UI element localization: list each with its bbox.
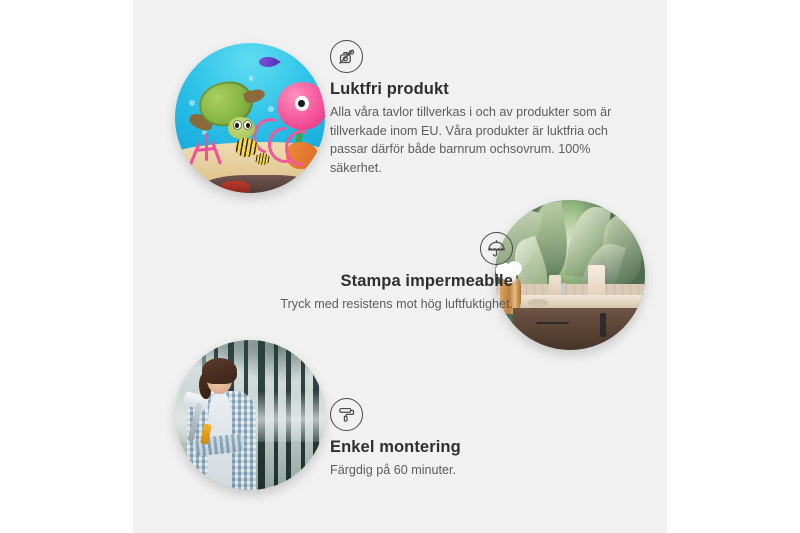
product-image-forest-installer bbox=[175, 340, 325, 490]
feature-title: Stampa impermeabile bbox=[213, 271, 513, 292]
feature-waterproof-print: Stampa impermeabile Tryck med resistens … bbox=[213, 232, 513, 314]
underwater-artwork bbox=[175, 43, 325, 193]
product-image-underwater-scene bbox=[175, 43, 325, 193]
feature-title: Enkel montering bbox=[330, 437, 630, 458]
feature-easy-installation: Enkel montering Färgdig på 60 minuter. bbox=[330, 398, 630, 480]
feature-title: Luktfri produkt bbox=[330, 79, 630, 100]
product-feature-banner: Luktfri produkt Alla våra tavlor tillver… bbox=[0, 0, 800, 533]
pink-coral bbox=[187, 133, 229, 174]
feature-odourless-product: Luktfri produkt Alla våra tavlor tillver… bbox=[330, 40, 630, 178]
blue-fish bbox=[259, 57, 277, 68]
icon-row bbox=[330, 398, 630, 431]
feature-panel: Luktfri produkt Alla våra tavlor tillver… bbox=[133, 0, 667, 533]
feature-description: Alla våra tavlor tillverkas i och av pro… bbox=[330, 103, 630, 179]
feature-description: Tryck med resistens mot hög luftfuktighe… bbox=[213, 295, 513, 314]
forest-artwork bbox=[175, 340, 325, 490]
yellow-fish bbox=[235, 138, 258, 158]
no-fragrance-icon bbox=[330, 40, 363, 73]
vanity-cabinet bbox=[513, 308, 645, 350]
product-image-bathroom-wallpaper bbox=[495, 200, 645, 350]
bathroom-artwork bbox=[495, 200, 645, 350]
umbrella-icon bbox=[480, 232, 513, 265]
paint-roller-icon bbox=[330, 398, 363, 431]
icon-row bbox=[330, 40, 630, 73]
feature-description: Färgdig på 60 minuter. bbox=[330, 461, 630, 480]
icon-row bbox=[213, 232, 513, 265]
